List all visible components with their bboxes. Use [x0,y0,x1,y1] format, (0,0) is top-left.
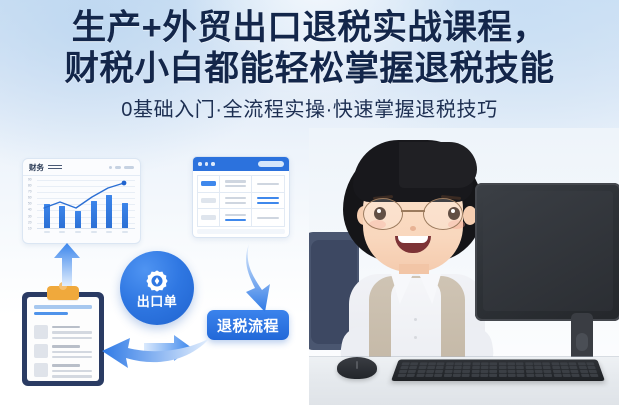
table-cell [252,176,284,193]
flow-button-label: 退税流程 [217,315,279,336]
table-cell [220,209,252,226]
clipboard-row [34,325,92,339]
window-dot-1 [198,162,202,166]
chart-card-header: 财务 [23,159,140,176]
window-addressbar [258,161,284,167]
hair-sweep [399,142,477,188]
keyboard [391,359,605,381]
headline-block: 生产+外贸出口退税实战课程， 财税小白都能轻松掌握退税技能 0基础入门·全流程实… [0,8,619,123]
monitor-screen-back [475,183,619,321]
eyeglasses-icon [361,198,465,228]
table-cell [198,176,220,193]
table-cell [252,209,284,226]
monitor-stand-knob [576,333,588,351]
tax-refund-process-button[interactable]: 退税流程 [207,310,289,340]
arrow-flow-to-clipboard-icon [100,332,212,376]
chart-card-header-dots [109,166,134,169]
keyboard-keys [397,362,598,377]
gear-target-icon [144,268,170,294]
clipboard-page [27,297,99,381]
monitor-panel [483,191,613,311]
clipboard-row [34,344,92,358]
glasses-bridge [401,210,425,212]
headline-line-1: 生产+外贸出口退税实战课程， [0,8,619,49]
chart-plot-area: 90 80 70 60 50 40 30 20 10 [28,178,135,233]
table-cell [198,209,220,226]
arrow-clipboard-to-chart-icon [52,242,82,288]
woman-at-computer-illustration [309,128,619,405]
clipboard-clip [47,286,79,300]
process-diagram: 财务 90 80 70 60 50 40 30 20 10 [0,146,312,405]
window-titlebar [193,157,289,171]
person-figure [337,138,497,388]
table-cell [252,193,284,210]
badge-label: 出口单 [137,295,178,308]
chart-card-title: 财务 [29,162,44,173]
shirt-button [414,336,417,339]
chart-trend-line [28,178,135,233]
finance-chart-card[interactable]: 财务 90 80 70 60 50 40 30 20 10 [22,158,141,244]
arrow-table-to-flow-icon [240,242,288,314]
table-cell [198,193,220,210]
tax-system-window-card[interactable] [192,156,290,238]
clipboard-header-lines [34,305,92,318]
computer-mouse [337,357,377,379]
window-dot-3 [211,162,215,166]
table-cell [220,176,252,193]
shirt-button [414,318,417,321]
promo-banner: 生产+外贸出口退税实战课程， 财税小白都能轻松掌握退税技能 0基础入门·全流程实… [0,0,619,405]
menu-lines-icon [48,165,62,170]
lens-right [423,198,463,230]
headline-subtitle: 0基础入门·全流程实操·快速掌握退税技巧 [0,97,619,123]
window-footer [197,229,285,234]
lens-left [363,198,403,230]
export-document-badge[interactable]: 出口单 [120,251,194,325]
headline-line-2: 财税小白都能轻松掌握退税技能 [0,49,619,90]
table-cell [220,193,252,210]
clipboard-rows [34,325,92,378]
nose [410,226,416,231]
computer-monitor [475,183,619,358]
data-table [197,175,285,227]
window-dot-2 [205,162,209,166]
clipboard-row [34,363,92,377]
clipboard-document[interactable] [22,286,104,386]
